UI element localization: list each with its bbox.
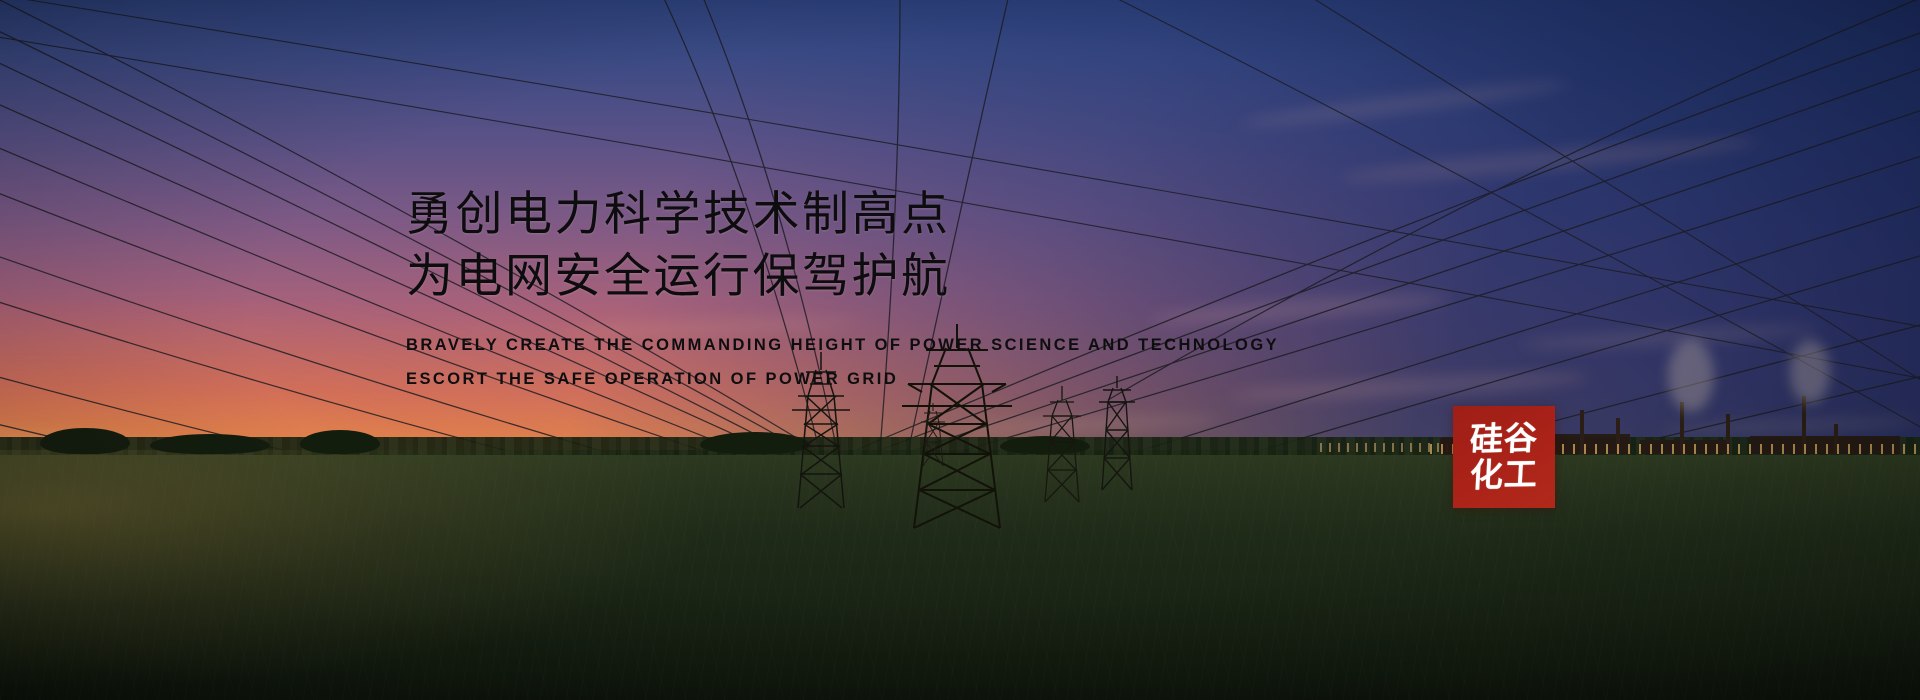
tree-cluster	[300, 430, 380, 454]
tree-cluster	[150, 434, 270, 454]
transmission-pylon-far	[920, 402, 946, 468]
subtitle-line-2: ESCORT THE SAFE OPERATION OF POWER GRID	[406, 363, 1526, 397]
tree-cluster	[40, 428, 130, 454]
headline-line-2: 为电网安全运行保驾护航	[406, 245, 1526, 307]
transmission-pylon-mid	[1040, 384, 1084, 504]
logo-stamp-line-2: 化工	[1469, 456, 1539, 493]
smoke-plume	[1790, 340, 1830, 404]
hero-banner: 勇创电力科学技术制高点 为电网安全运行保驾护航 BRAVELY CREATE T…	[0, 0, 1920, 700]
subtitle-line-1: BRAVELY CREATE THE COMMANDING HEIGHT OF …	[406, 329, 1526, 363]
smoke-plume	[1668, 340, 1714, 412]
ground-sun-glow	[0, 450, 760, 700]
banner-copy: 勇创电力科学技术制高点 为电网安全运行保驾护航 BRAVELY CREATE T…	[406, 183, 1526, 397]
logo-stamp: 硅谷 化工	[1453, 406, 1555, 508]
logo-stamp-line-1: 硅谷	[1469, 420, 1539, 458]
headline-line-1: 勇创电力科学技术制高点	[406, 183, 1526, 245]
